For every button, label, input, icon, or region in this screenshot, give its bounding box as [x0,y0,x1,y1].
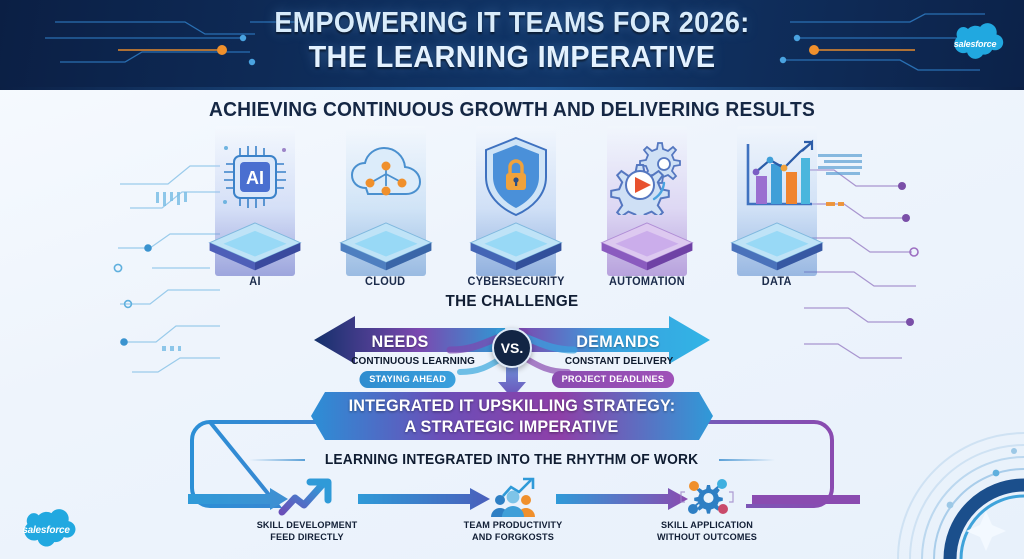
shield-lock-icon [480,128,552,227]
pillar-cube [729,221,825,272]
growth-arrow-icon [222,478,392,518]
subtitle: ACHIEVING CONTINUOUS GROWTH AND DELIVERI… [20,99,1003,122]
gears-play-icon [606,128,688,227]
pillar-label-ai: AI [249,276,261,288]
circuit-node-dot [794,35,800,41]
strategy-banner-line1: INTEGRATED IT UPSKILLING STRATEGY: [349,396,676,416]
challenge-title: THE CHALLENGE [26,293,999,311]
salesforce-logo-footer: salesforce [12,508,80,554]
step-skill-application[interactable]: SKILL APPLICATION WITHOUT OUTCOMES [622,478,792,544]
step-caption-line1: TEAM PRODUCTIVITY [431,520,594,532]
rhythm-row: LEARNING INTEGRATED INTO THE RHYTHM OF W… [0,452,1024,468]
pillar-automation[interactable]: AUTOMATION [588,128,706,288]
strategy-banner[interactable]: INTEGRATED IT UPSKILLING STRATEGY: A STR… [309,390,715,442]
salesforce-logo-text: salesforce [944,22,1006,66]
background-circuit-right [804,130,1024,380]
step-caption-line1: SKILL DEVELOPMENT [225,520,388,532]
step-caption-line2: WITHOUT OUTCOMES [625,532,788,544]
step-caption-line2: FEED DIRECTLY [225,532,388,544]
circuit-node-dot [240,35,246,41]
pillar-cybersecurity[interactable]: CYBERSECURITY [457,128,575,288]
needs-word: NEEDS [372,332,429,352]
challenge-comparison: NEEDS DEMANDS CONTINUOUS LEARNING CONSTA… [300,310,724,400]
header-banner: EMPOWERING IT TEAMS FOR 2026: THE LEARNI… [0,0,1024,90]
pillar-label-automation: AUTOMATION [609,276,685,288]
step-team-productivity[interactable]: TEAM PRODUCTIVITY AND FORGKOSTS [428,478,598,544]
pillar-cube [207,221,303,272]
pillars-row: AI AI [196,128,836,288]
pillar-cloud[interactable]: CLOUD [327,128,445,288]
pill-project-deadlines[interactable]: PROJECT DEADLINES [552,371,674,388]
header-circuit-decoration [0,0,1024,90]
accent-dot-left [217,45,227,55]
circuit-node-dot [249,59,255,65]
pillar-cube [599,221,695,272]
salesforce-logo-text: salesforce [12,508,80,554]
step-caption: SKILL APPLICATION WITHOUT OUTCOMES [625,520,788,544]
step-caption: TEAM PRODUCTIVITY AND FORGKOSTS [431,520,594,544]
strategy-banner-line2: A STRATEGIC IMPERATIVE [405,417,619,437]
pillar-label-cybersecurity: CYBERSECURITY [467,276,564,288]
demands-word: DEMANDS [576,332,660,352]
svg-text:AI: AI [246,168,264,188]
step-caption-line2: AND FORGKOSTS [431,532,594,544]
pillar-cube [338,221,434,272]
step-caption: SKILL DEVELOPMENT FEED DIRECTLY [225,520,388,544]
steps-row: SKILL DEVELOPMENT FEED DIRECTLY TE [0,478,1024,558]
pillar-label-data: DATA [762,276,792,288]
rhythm-divider-right [719,459,775,461]
pillar-data[interactable]: DATA [718,128,836,288]
demands-subtext: CONSTANT DELIVERY [565,355,674,367]
network-gear-icon [622,478,792,518]
infographic-canvas: EMPOWERING IT TEAMS FOR 2026: THE LEARNI… [0,0,1024,559]
team-people-icon [428,478,598,518]
needs-subtext: CONTINUOUS LEARNING [351,355,475,367]
bar-chart-icon [736,128,818,227]
step-skill-development[interactable]: SKILL DEVELOPMENT FEED DIRECTLY [222,478,392,544]
pillar-label-cloud: CLOUD [365,276,405,288]
background-circuit-left [0,130,220,380]
rhythm-text: LEARNING INTEGRATED INTO THE RHYTHM OF W… [325,452,698,468]
ai-chip-icon: AI [218,128,292,227]
vs-badge: VS. [492,328,532,368]
pillar-cube [468,221,564,272]
salesforce-logo-header: salesforce [944,22,1006,66]
circuit-node-dot [780,57,786,63]
pill-staying-ahead[interactable]: STAYING AHEAD [359,371,455,388]
pillar-ai[interactable]: AI AI [196,128,314,288]
step-caption-line1: SKILL APPLICATION [625,520,788,532]
accent-dot-right [809,45,819,55]
cloud-network-icon [346,128,426,227]
rhythm-divider-left [249,459,305,461]
